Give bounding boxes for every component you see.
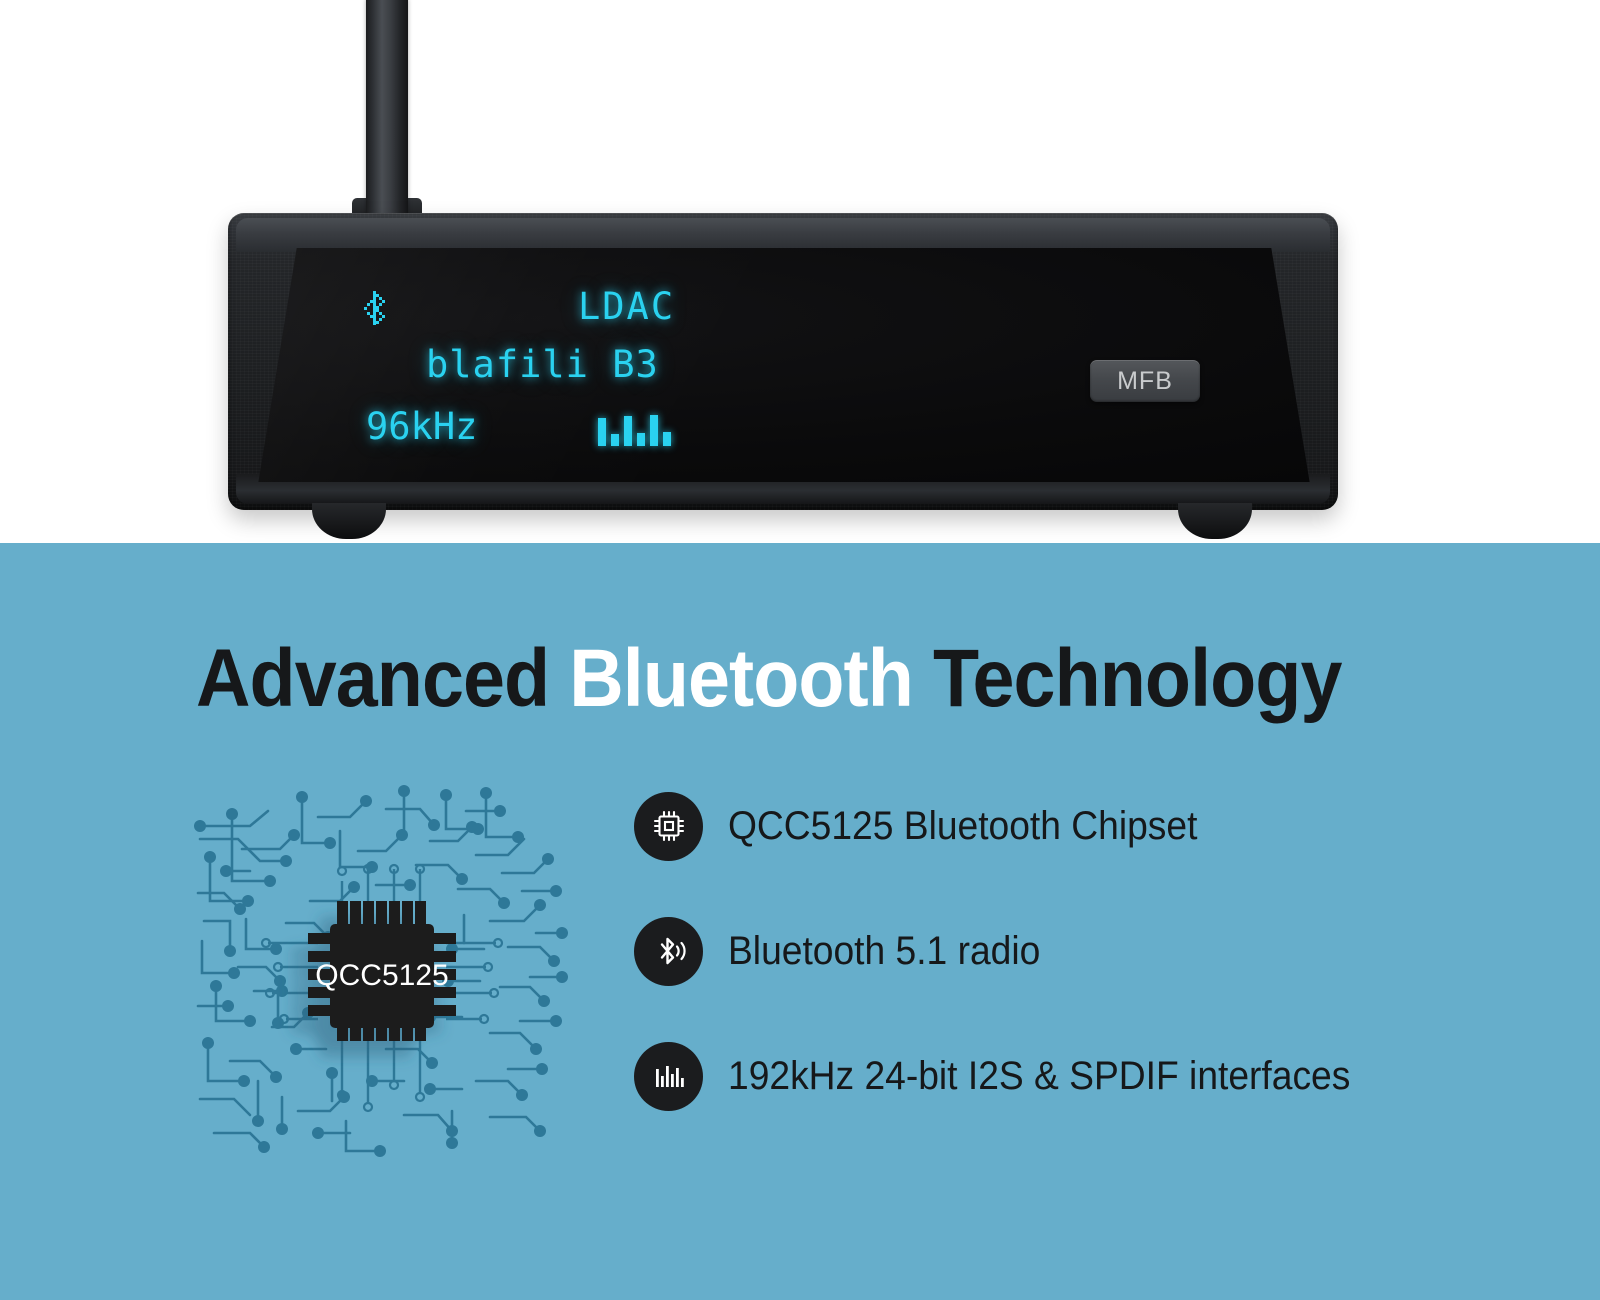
level-bar bbox=[663, 432, 671, 446]
device-foot-right bbox=[1178, 503, 1252, 539]
headline-part-bluetooth: Bluetooth bbox=[569, 633, 933, 724]
marketing-panel: Advanced Bluetooth Technology bbox=[0, 543, 1600, 1300]
bluetooth-icon bbox=[362, 289, 388, 327]
chassis-top-bevel bbox=[236, 218, 1330, 252]
feature-label-chipset: QCC5125 Bluetooth Chipset bbox=[728, 804, 1197, 849]
device-name-label: blafili B3 bbox=[426, 343, 659, 386]
chip-label: QCC5125 bbox=[315, 959, 448, 992]
product-marketing-page: LDAC blafili B3 96kHz MFB Advanced Bluet… bbox=[0, 0, 1600, 1300]
feature-row-chipset: QCC5125 Bluetooth Chipset bbox=[634, 790, 1434, 862]
page-title: Advanced Bluetooth Technology bbox=[196, 638, 1341, 720]
headline-part-advanced: Advanced bbox=[196, 633, 569, 724]
product-photo-area: LDAC blafili B3 96kHz MFB bbox=[0, 0, 1600, 543]
oled-display: LDAC blafili B3 96kHz bbox=[330, 285, 750, 470]
level-bar bbox=[611, 434, 619, 446]
chipset-icon bbox=[634, 792, 703, 861]
feature-row-interfaces: 192kHz 24-bit I2S & SPDIF interfaces bbox=[634, 1040, 1434, 1112]
feature-label-bluetooth: Bluetooth 5.1 radio bbox=[728, 929, 1040, 974]
headline-part-technology: Technology bbox=[933, 633, 1342, 724]
mfb-button[interactable]: MFB bbox=[1090, 360, 1200, 402]
level-bar bbox=[650, 415, 658, 446]
level-bar bbox=[624, 416, 632, 446]
feature-label-interfaces: 192kHz 24-bit I2S & SPDIF interfaces bbox=[728, 1054, 1350, 1099]
device-foot-left bbox=[312, 503, 386, 539]
feature-list: QCC5125 Bluetooth Chipset Bluetooth 5.1 … bbox=[634, 790, 1434, 1112]
level-bar bbox=[598, 418, 606, 446]
antenna-rod-icon bbox=[366, 0, 408, 222]
audio-level-meter-icon bbox=[598, 406, 671, 446]
sample-rate-label: 96kHz bbox=[366, 405, 477, 448]
feature-row-bluetooth: Bluetooth 5.1 radio bbox=[634, 915, 1434, 987]
circuit-board-illustration: QCC5125 bbox=[190, 781, 570, 1161]
codec-label: LDAC bbox=[578, 285, 675, 328]
equalizer-icon bbox=[634, 1042, 703, 1111]
bluetooth-radio-icon bbox=[634, 917, 703, 986]
level-bar bbox=[637, 433, 645, 446]
